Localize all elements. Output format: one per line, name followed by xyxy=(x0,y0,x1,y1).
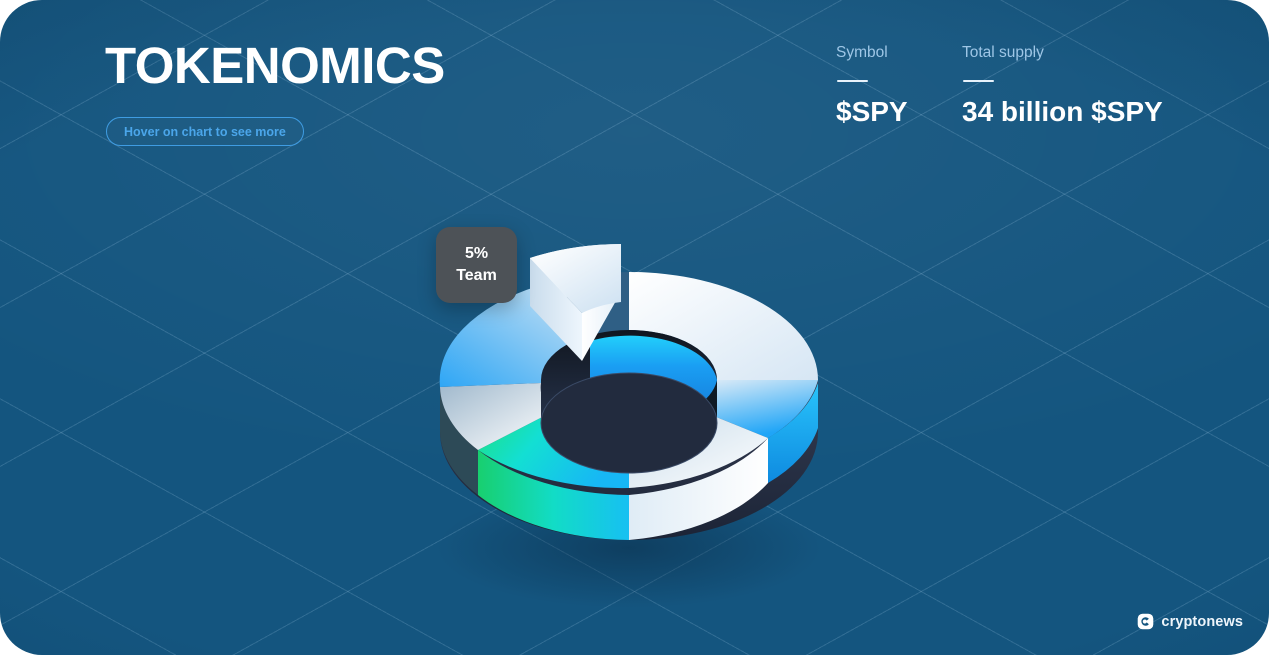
chart-tooltip: 5% Team xyxy=(436,227,517,303)
tooltip-label: Team xyxy=(456,265,497,287)
tokenomics-card: TOKENOMICS Hover on chart to see more Sy… xyxy=(0,0,1269,655)
stat-symbol-value: $SPY xyxy=(836,98,908,126)
page-title: TOKENOMICS xyxy=(105,40,445,91)
tooltip-percent: 5% xyxy=(465,243,488,265)
stat-symbol-label: Symbol xyxy=(836,45,908,61)
cryptonews-c-mark-icon xyxy=(1137,613,1154,630)
stat-total-supply-label: Total supply xyxy=(962,45,1163,61)
stat-total-supply-divider xyxy=(963,80,994,82)
donut-hole xyxy=(541,330,717,473)
stat-total-supply-value: 34 billion $SPY xyxy=(962,98,1163,126)
stat-symbol-divider xyxy=(837,80,868,82)
stat-symbol: Symbol $SPY xyxy=(836,45,908,126)
hover-hint-pill[interactable]: Hover on chart to see more xyxy=(106,117,304,146)
cryptonews-logo[interactable]: cryptonews xyxy=(1137,613,1243,630)
stat-total-supply: Total supply 34 billion $SPY xyxy=(962,45,1163,126)
screenshot-root: TOKENOMICS Hover on chart to see more Sy… xyxy=(0,0,1269,655)
cryptonews-wordmark: cryptonews xyxy=(1161,614,1243,630)
